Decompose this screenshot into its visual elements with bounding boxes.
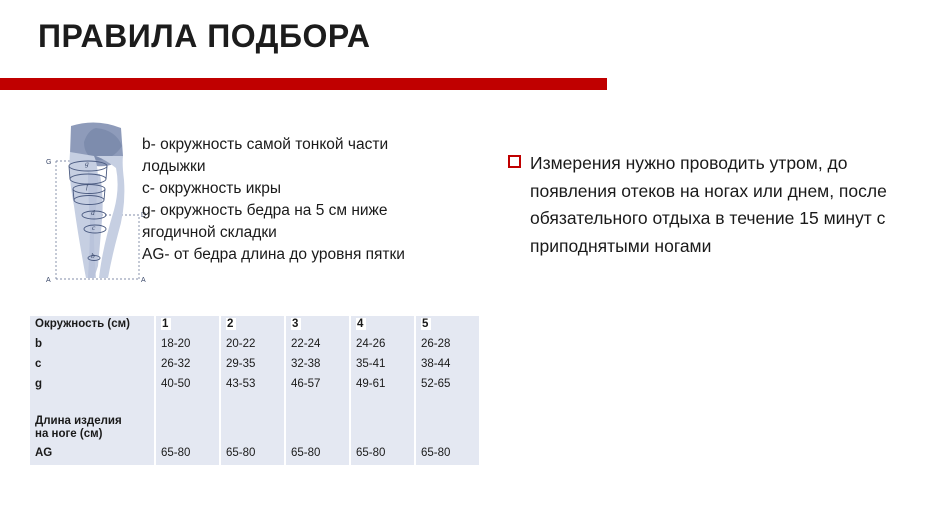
table-row: c 26-32 29-35 32-38 35-41 38-44 (30, 356, 479, 376)
table-header-size-1-value: 1 (161, 318, 171, 330)
table-section-label: Длина изделия на ноге (см) (30, 413, 155, 445)
diagram-corner-g: G (46, 159, 51, 166)
table-row-label: c (30, 356, 155, 376)
table-row: g 40-50 43-53 46-57 49-61 52-65 (30, 376, 479, 396)
table-cell: 38-44 (415, 356, 479, 376)
table-row: AG 65-80 65-80 65-80 65-80 65-80 (30, 445, 479, 465)
diagram-label-g: g (85, 159, 89, 168)
table-cell (415, 396, 479, 413)
table-header-size-4-value: 4 (356, 318, 366, 330)
table-cell: 52-65 (415, 376, 479, 396)
table-row-label: AG (30, 445, 155, 465)
table-row: b 18-20 20-22 22-24 24-26 26-28 (30, 336, 479, 356)
leg-measurement-diagram: g f d c b G D A A (44, 116, 148, 296)
legend-line: c- окружность икры (142, 178, 442, 200)
table-cell: 20-22 (220, 336, 285, 356)
diagram-label-b: b (91, 251, 95, 260)
table-cell (155, 396, 220, 413)
table-cell (285, 413, 350, 445)
table-header-size-5: 5 (415, 316, 479, 336)
diagram-corner-a-right: A (141, 277, 146, 284)
table-spacer-row (30, 396, 479, 413)
table-cell: 40-50 (155, 376, 220, 396)
table-cell (30, 396, 155, 413)
legend-line: AG- от бедра длина до уровня пятки (142, 244, 442, 266)
table-section-label-line1: Длина изделия (35, 415, 122, 427)
table-cell: 43-53 (220, 376, 285, 396)
table-header-size-2: 2 (220, 316, 285, 336)
measurement-legend: b- окружность самой тонкой части лодыжки… (142, 134, 442, 266)
table-cell (155, 413, 220, 445)
table-section-row: Длина изделия на ноге (см) (30, 413, 479, 445)
table-cell (285, 396, 350, 413)
table-cell (220, 413, 285, 445)
table-cell (415, 413, 479, 445)
checkbox-square-icon (508, 155, 521, 168)
table-cell: 24-26 (350, 336, 415, 356)
table-header-size-3: 3 (285, 316, 350, 336)
table-cell: 29-35 (220, 356, 285, 376)
diagram-label-d: d (91, 208, 95, 217)
table-row-label: b (30, 336, 155, 356)
legend-line: ягодичной складки (142, 222, 442, 244)
table-cell: 65-80 (155, 445, 220, 465)
table-cell (220, 396, 285, 413)
table-cell: 22-24 (285, 336, 350, 356)
bullet-item: Измерения нужно проводить утром, до появ… (508, 150, 908, 260)
table-cell: 32-38 (285, 356, 350, 376)
table-cell: 65-80 (220, 445, 285, 465)
table-cell: 49-61 (350, 376, 415, 396)
table-header-size-1: 1 (155, 316, 220, 336)
table-header-size-4: 4 (350, 316, 415, 336)
table-header-size-2-value: 2 (226, 318, 236, 330)
size-chart-table: Окружность (см) 1 2 3 4 5 b 18-20 20-22 … (30, 316, 479, 465)
table-header-row: Окружность (см) 1 2 3 4 5 (30, 316, 479, 336)
table-header-size-3-value: 3 (291, 318, 301, 330)
table-row-label: g (30, 376, 155, 396)
title-accent-rule (0, 78, 607, 90)
legend-line: лодыжки (142, 156, 442, 178)
table-section-label-line2: на ноге (см) (35, 428, 102, 440)
table-cell: 18-20 (155, 336, 220, 356)
bullet-text: Измерения нужно проводить утром, до появ… (530, 150, 908, 260)
table-cell (350, 413, 415, 445)
table-cell: 46-57 (285, 376, 350, 396)
legend-line: g- окружность бедра на 5 см ниже (142, 200, 442, 222)
table-cell (350, 396, 415, 413)
table-cell: 26-32 (155, 356, 220, 376)
page-title: ПРАВИЛА ПОДБОРА (38, 18, 371, 55)
table-cell: 26-28 (415, 336, 479, 356)
table-cell: 35-41 (350, 356, 415, 376)
table-cell: 65-80 (285, 445, 350, 465)
table-header-label: Окружность (см) (30, 316, 155, 336)
legend-line: b- окружность самой тонкой части (142, 134, 442, 156)
table-cell: 65-80 (415, 445, 479, 465)
table-cell: 65-80 (350, 445, 415, 465)
table-header-size-5-value: 5 (421, 318, 431, 330)
diagram-corner-a-left: A (46, 277, 51, 284)
